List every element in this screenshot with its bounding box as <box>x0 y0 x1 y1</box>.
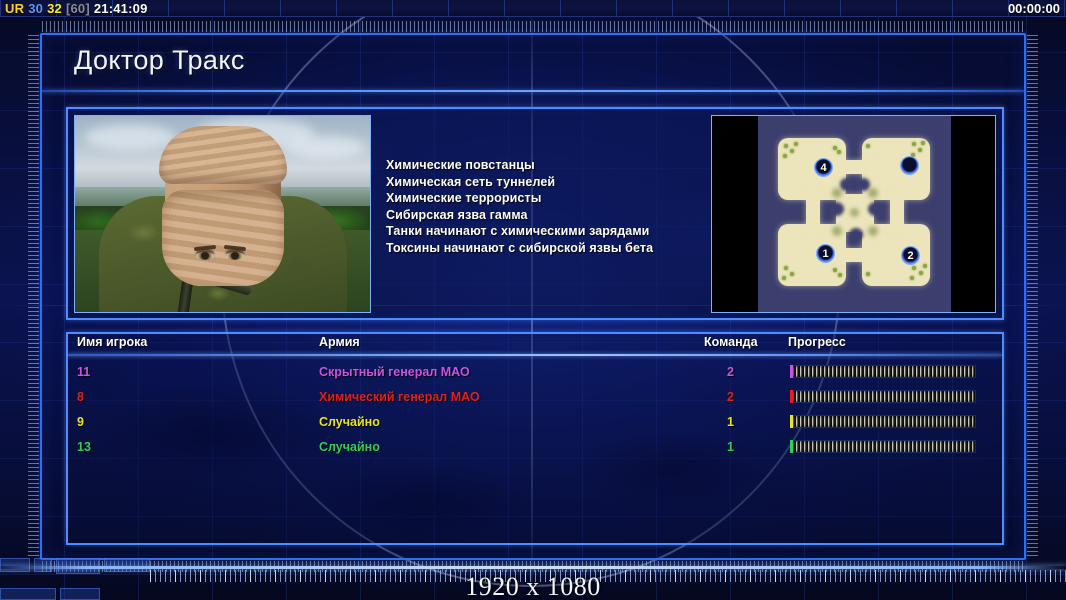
session-time: 21:41:09 <box>94 1 148 16</box>
cell-player-name: 8 <box>77 385 84 409</box>
faction-description: Химические повстанцы Химическая сеть тун… <box>386 157 716 257</box>
map-vegetation <box>850 208 859 217</box>
resolution-label: 1920 x 1080 <box>0 572 1066 600</box>
column-header-army: Армия <box>319 335 360 349</box>
portrait-eye <box>196 252 214 260</box>
stat-b-value: 32 <box>47 1 62 16</box>
map-detail <box>828 202 844 216</box>
progress-bar-lead <box>790 440 793 453</box>
portrait-brow <box>193 245 215 251</box>
cell-army[interactable]: Химический генерал МАО <box>319 385 480 409</box>
map-vegetation <box>868 226 878 236</box>
description-line: Химические повстанцы <box>386 157 716 174</box>
cell-team[interactable]: 2 <box>694 360 734 384</box>
frame-ruler-right <box>1027 35 1038 558</box>
description-line: Токсины начинают с сибирской язвы бета <box>386 240 716 257</box>
commander-portrait <box>74 115 371 313</box>
portrait-brow <box>223 245 245 251</box>
progress-bar <box>790 390 976 403</box>
progress-bar <box>790 365 976 378</box>
map-start-position[interactable]: 1 <box>816 244 835 263</box>
cell-player-name: 11 <box>77 360 90 384</box>
top-status-bar: UR3032[60]21:41:09 00:00:00 <box>0 0 1066 17</box>
progress-bar <box>790 415 976 428</box>
portrait-head-wrap <box>159 126 287 184</box>
map-detail <box>840 178 853 191</box>
description-line: Сибирская язва гамма <box>386 207 716 224</box>
map-detail <box>849 228 863 241</box>
portrait-face-wrap <box>162 190 284 286</box>
table-row[interactable]: 9 Случайно 1 <box>68 410 1002 434</box>
frame-ruler-left <box>28 35 39 558</box>
stat-c-value: [60] <box>66 1 90 16</box>
progress-bar-lead <box>790 390 793 403</box>
performance-stats: UR3032[60]21:41:09 <box>5 0 152 17</box>
progress-bar <box>790 440 976 453</box>
description-line: Химические террористы <box>386 190 716 207</box>
column-header-player: Имя игрока <box>77 335 147 349</box>
frame-ruler-top <box>42 21 1024 32</box>
cell-army[interactable]: Случайно <box>319 410 380 434</box>
cell-player-name: 13 <box>77 435 91 459</box>
description-line: Химическая сеть туннелей <box>386 174 716 191</box>
clock-display: 00:00:00 <box>1008 0 1060 17</box>
table-row[interactable]: 11 Скрытный генерал МАО 2 <box>68 360 1002 384</box>
map-start-position[interactable]: 4 <box>814 158 833 177</box>
map-bridge <box>806 190 820 234</box>
cell-player-name: 9 <box>77 410 84 434</box>
table-row[interactable]: 8 Химический генерал МАО 2 <box>68 385 1002 409</box>
topbar-tick-marks <box>0 0 1066 16</box>
player-table-divider <box>68 354 1002 356</box>
title-divider <box>42 90 1024 92</box>
portrait-cloud <box>85 124 175 150</box>
map-start-position[interactable]: 2 <box>901 246 920 265</box>
portrait-eye <box>226 252 244 260</box>
fps-label: UR <box>5 1 24 16</box>
progress-bar-lead <box>790 365 793 378</box>
map-bridge <box>890 190 904 234</box>
progress-bar-lead <box>790 415 793 428</box>
description-line: Танки начинают с химическими зарядами <box>386 223 716 240</box>
cell-team[interactable]: 2 <box>694 385 734 409</box>
table-row[interactable]: 13 Случайно 1 <box>68 435 1002 459</box>
cell-team[interactable]: 1 <box>694 410 734 434</box>
page-title: Доктор Тракс <box>74 45 245 76</box>
main-panel-frame: Доктор Тракс <box>40 33 1026 560</box>
bottom-divider <box>0 566 1066 569</box>
map-preview[interactable]: 4 1 2 <box>711 115 996 313</box>
cell-army[interactable]: Скрытный генерал МАО <box>319 360 470 384</box>
map-vegetation <box>868 188 878 198</box>
column-header-progress: Прогресс <box>788 335 846 349</box>
title-bar: Доктор Тракс <box>42 43 1024 91</box>
cell-army[interactable]: Случайно <box>319 435 380 459</box>
map-detail <box>868 202 884 216</box>
player-table-header: Имя игрока Армия Команда Прогресс <box>68 334 1002 355</box>
map-preview-canvas: 4 1 2 <box>758 116 951 313</box>
map-vegetation <box>832 188 842 198</box>
map-bridge <box>832 248 878 262</box>
game-lobby-screen: UR3032[60]21:41:09 00:00:00 Доктор Тракс <box>0 0 1066 600</box>
info-panel: Химические повстанцы Химическая сеть тун… <box>66 107 1004 320</box>
player-table-panel: Имя игрока Армия Команда Прогресс 11 Скр… <box>66 332 1004 545</box>
stat-a-value: 30 <box>28 1 43 16</box>
map-vegetation <box>832 226 842 236</box>
cell-team[interactable]: 1 <box>694 435 734 459</box>
map-bridge <box>832 160 878 174</box>
map-start-position[interactable] <box>900 156 919 175</box>
portrait-cloud <box>285 136 365 158</box>
column-header-team: Команда <box>704 335 758 349</box>
